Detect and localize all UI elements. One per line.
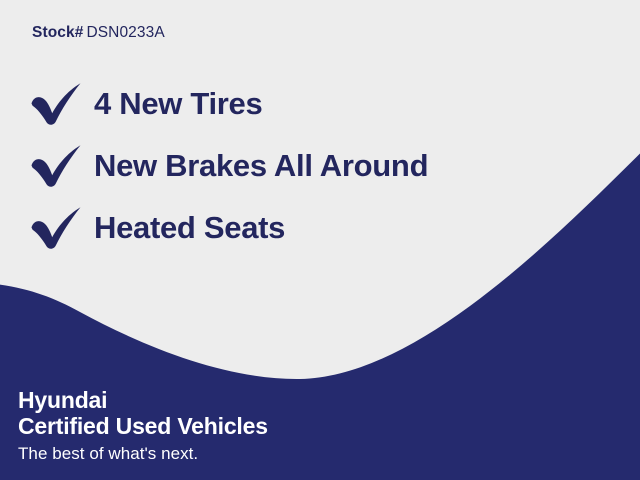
check-icon (26, 141, 88, 189)
stock-value: DSN0233A (86, 24, 164, 41)
check-icon (26, 79, 88, 127)
feature-item: 4 New Tires (26, 72, 606, 134)
feature-label: Heated Seats (94, 212, 285, 243)
brand-block: Hyundai Certified Used Vehicles The best… (18, 387, 268, 466)
stock-number: Stock#DSN0233A (32, 24, 165, 42)
brand-name: Hyundai (18, 387, 268, 413)
brand-program: Certified Used Vehicles (18, 413, 268, 439)
feature-item: Heated Seats (26, 196, 606, 258)
brand-tagline: The best of what's next. (18, 441, 268, 467)
feature-label: 4 New Tires (94, 88, 262, 119)
check-icon (26, 203, 88, 251)
feature-list: 4 New Tires New Brakes All Around Heated… (26, 72, 606, 258)
feature-item: New Brakes All Around (26, 134, 606, 196)
stock-label: Stock# (32, 24, 83, 41)
feature-label: New Brakes All Around (94, 150, 428, 181)
promo-card: Stock#DSN0233A 4 New Tires New Brakes Al… (0, 0, 640, 480)
